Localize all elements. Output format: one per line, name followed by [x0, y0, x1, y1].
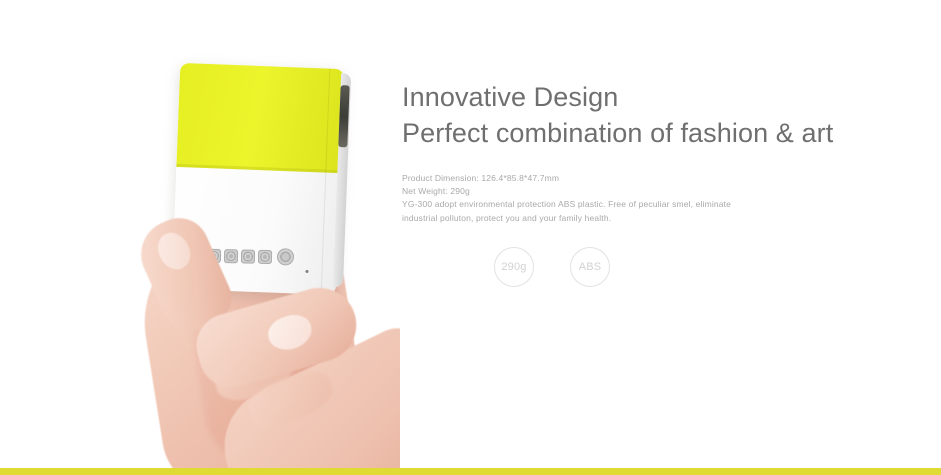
marketing-copy-block: Innovative Design Perfect combination of…	[402, 80, 907, 287]
spec-line-material-2: industrial polluton, protect you and you…	[402, 212, 907, 225]
ir-receiver-dot	[305, 270, 308, 273]
headline-secondary: Perfect combination of fashion & art	[402, 116, 907, 150]
power-dial-button	[277, 248, 294, 265]
product-feature-banner: Innovative Design Perfect combination of…	[0, 0, 941, 475]
spec-line-dimension: Product Dimension: 126.4*85.8*47.7mm	[402, 172, 907, 185]
spec-line-material-1: YG-300 adopt environmental protection AB…	[402, 198, 907, 211]
badge-weight: 290g	[494, 247, 534, 287]
bottom-accent-band	[0, 468, 941, 475]
headline-primary: Innovative Design	[402, 80, 907, 114]
product-photo	[0, 0, 400, 470]
badge-material: ABS	[570, 247, 610, 287]
product-spec-list: Product Dimension: 126.4*85.8*47.7mm Net…	[402, 172, 907, 225]
control-button-5	[258, 249, 272, 263]
spec-line-weight: Net Weight: 290g	[402, 185, 907, 198]
control-button-3	[224, 249, 238, 263]
feature-badge-group: 290g ABS	[494, 247, 907, 287]
device-yellow-top-panel	[176, 63, 344, 173]
control-button-4	[241, 249, 255, 263]
